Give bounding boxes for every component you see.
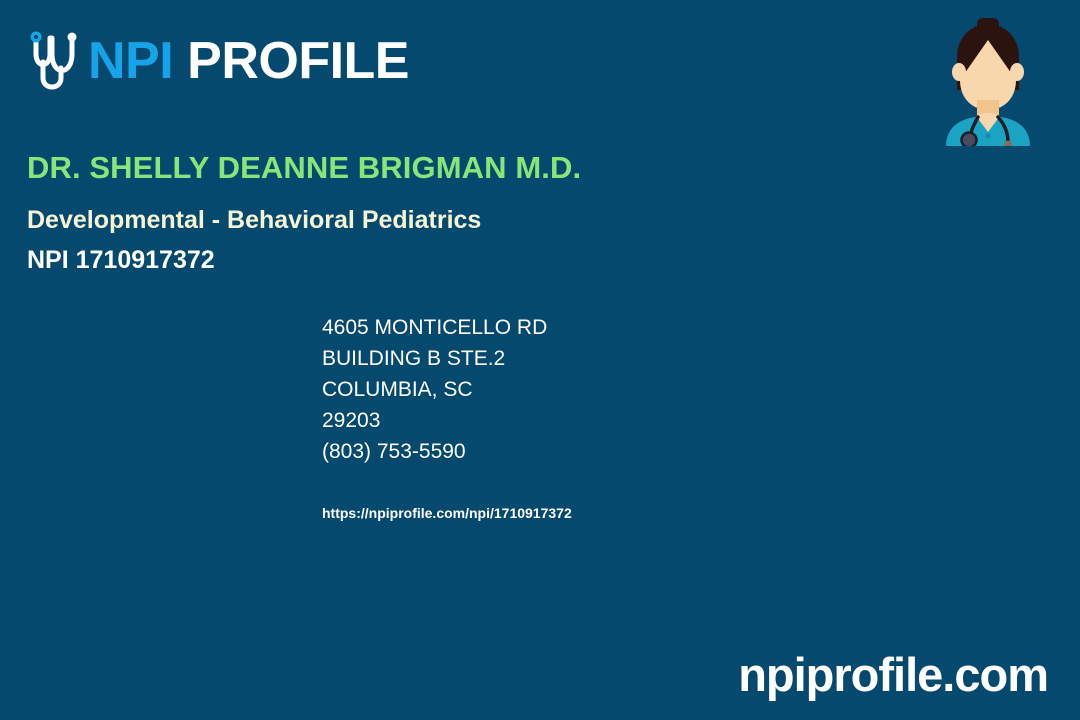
stethoscope-icon (26, 24, 84, 98)
provider-specialty: Developmental - Behavioral Pediatrics (27, 206, 481, 235)
page-title: DR. SHELLY DEANNE BRIGMAN M.D. (27, 150, 581, 186)
provider-npi-number: NPI 1710917372 (27, 246, 215, 275)
logo-profile-text (173, 32, 187, 90)
address-block: 4605 MONTICELLO RD BUILDING B STE.2 COLU… (322, 312, 547, 467)
brand-logo[interactable]: NPI PROFILE (26, 24, 409, 98)
address-zip: 29203 (322, 405, 547, 436)
profile-card: NPI PROFILE (0, 0, 1080, 720)
logo-profile-word: PROFILE (187, 32, 409, 90)
logo-wordmark: NPI PROFILE (88, 35, 409, 87)
profile-url-link[interactable]: https://npiprofile.com/npi/1710917372 (322, 505, 572, 521)
footer-brand-text: npiprofile.com (738, 647, 1048, 702)
address-suite: BUILDING B STE.2 (322, 343, 547, 374)
address-city-state: COLUMBIA, SC (322, 374, 547, 405)
logo-npi-text: NPI (88, 32, 173, 90)
address-phone: (803) 753-5590 (322, 436, 547, 467)
female-doctor-avatar (936, 14, 1040, 146)
address-street: 4605 MONTICELLO RD (322, 312, 547, 343)
